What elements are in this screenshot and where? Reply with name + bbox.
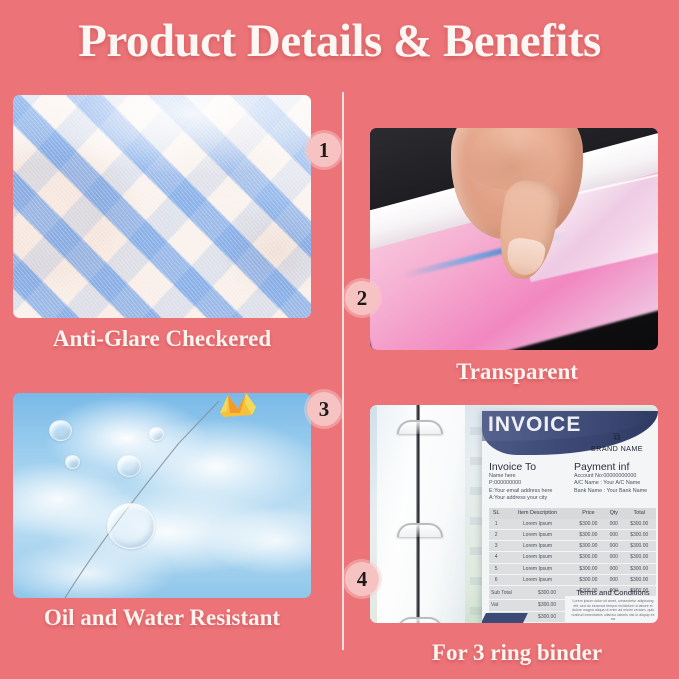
invoice-to-line: P:000000000 xyxy=(489,480,569,487)
terms-block: Terms and Conditions Lorem ipsum dolor s… xyxy=(570,588,656,622)
table-cell: $300.00 xyxy=(572,519,605,530)
table-cell: 5 xyxy=(489,563,503,574)
totals-row: Sub Total$300.00 xyxy=(489,588,565,599)
table-cell: $300.00 xyxy=(572,574,605,585)
brand-name: BRAND NAME xyxy=(581,444,653,453)
feature-caption-3: Oil and Water Resistant xyxy=(0,605,324,631)
film-sheen xyxy=(13,95,311,318)
step-badge-2: 2 xyxy=(345,281,379,315)
payment-info-line: Account No:00000000000 xyxy=(574,473,656,480)
invoice-to-line: Name here xyxy=(489,473,569,480)
binder-ring xyxy=(397,523,443,537)
table-row: 3Lorem Ipsum$300.00000$300.00 xyxy=(489,541,656,552)
table-cell: 000 xyxy=(605,519,622,530)
table-cell: 000 xyxy=(605,552,622,563)
feature-image-2 xyxy=(370,128,658,350)
feature-caption-1: Anti-Glare Checkered xyxy=(0,326,324,352)
payment-info-block: Payment inf Account No:00000000000 A/C N… xyxy=(574,461,656,495)
column-header: Price xyxy=(572,508,605,519)
table-cell: 3 xyxy=(489,541,503,552)
table-cell: 4 xyxy=(489,552,503,563)
table-cell: 000 xyxy=(605,541,622,552)
table-cell: 000 xyxy=(605,574,622,585)
table-cell: 000 xyxy=(605,563,622,574)
invoice-to-heading: Invoice To xyxy=(489,461,569,473)
table-row: 2Lorem Ipsum$300.00000$300.00 xyxy=(489,529,656,540)
binder-spine xyxy=(416,405,420,623)
step-badge-3: 3 xyxy=(307,392,341,426)
brand-logo-icon: ⧉ xyxy=(581,433,653,443)
table-cell: $300.00 xyxy=(622,574,656,585)
table-cell: $300.00 xyxy=(572,563,605,574)
table-cell: $300.00 xyxy=(622,552,656,563)
table-cell: Lorem Ipsum xyxy=(503,552,571,563)
feature-caption-4: For 3 ring binder xyxy=(355,640,679,666)
column-header: SL xyxy=(489,508,503,519)
invoice-to-block: Invoice To Name here P:000000000 E:Your … xyxy=(489,461,569,503)
table-row: 5Lorem Ipsum$300.00000$300.00 xyxy=(489,563,656,574)
table-cell: Lorem Ipsum xyxy=(503,541,571,552)
vertical-divider xyxy=(342,92,344,650)
table-row: 1Lorem Ipsum$300.00000$300.00 xyxy=(489,519,656,530)
knuckle-shading xyxy=(465,132,557,190)
payment-info-line: A/C Name : Your A/C Name xyxy=(574,480,656,487)
sheet-protector-sleeve xyxy=(377,405,465,623)
column-header: Item Description xyxy=(503,508,571,519)
binder-ring xyxy=(397,420,443,434)
water-droplet xyxy=(149,427,164,441)
table-cell: $300.00 xyxy=(572,541,605,552)
table-row: 6Lorem Ipsum$300.00000$300.00 xyxy=(489,574,656,585)
water-droplet xyxy=(49,420,72,441)
table-cell: $300.00 xyxy=(622,529,656,540)
invoice-items-table: SL Item Description Price Qty Total 1Lor… xyxy=(489,508,656,597)
totals-value: $300.00 xyxy=(529,599,565,611)
step-badge-4: 4 xyxy=(345,562,379,596)
step-badge-1: 1 xyxy=(307,133,341,167)
feature-caption-2: Transparent xyxy=(355,359,679,385)
table-cell: 2 xyxy=(489,529,503,540)
water-droplet xyxy=(107,503,155,549)
totals-label: Sub Total xyxy=(489,588,529,599)
table-cell: $300.00 xyxy=(622,519,656,530)
table-cell: Lorem Ipsum xyxy=(503,519,571,530)
totals-value: $300.00 xyxy=(529,611,565,623)
table-cell: $300.00 xyxy=(572,552,605,563)
kite-icon xyxy=(218,393,258,417)
table-cell: Lorem Ipsum xyxy=(503,529,571,540)
payment-info-heading: Payment inf xyxy=(574,461,656,473)
table-header-row: SL Item Description Price Qty Total xyxy=(489,508,656,519)
totals-value: $300.00 xyxy=(529,588,565,599)
product-feature-infographic: Product Details & Benefits xyxy=(0,0,679,679)
invoice-to-line: E:Your email address here xyxy=(489,488,569,495)
invoice-title: INVOICE xyxy=(488,413,581,437)
table-cell: $300.00 xyxy=(622,541,656,552)
brand-block: ⧉ BRAND NAME xyxy=(581,433,653,453)
table-cell: $300.00 xyxy=(572,529,605,540)
table-cell: 6 xyxy=(489,574,503,585)
terms-body: Lorem ipsum dolor sit amet, consectetur … xyxy=(570,599,656,622)
page-title: Product Details & Benefits xyxy=(0,14,679,68)
feature-image-3 xyxy=(13,393,311,598)
table-cell: Lorem Ipsum xyxy=(503,563,571,574)
invoice-to-line: A:Your address your city xyxy=(489,495,569,502)
kite-string xyxy=(59,393,231,598)
table-row: 4Lorem Ipsum$300.00000$300.00 xyxy=(489,552,656,563)
feature-image-1 xyxy=(13,95,311,318)
totals-label: Vat xyxy=(489,599,529,611)
totals-row: Vat$300.00 xyxy=(489,599,565,611)
table-cell: 1 xyxy=(489,519,503,530)
table-cell: 000 xyxy=(605,529,622,540)
invoice-footer-wedge xyxy=(482,613,528,623)
terms-heading: Terms and Conditions xyxy=(570,588,656,597)
water-droplet xyxy=(117,455,141,477)
column-header: Total xyxy=(622,508,656,519)
water-droplet xyxy=(65,455,80,469)
column-header: Qty xyxy=(605,508,622,519)
invoice-sheet: INVOICE ⧉ BRAND NAME Invoice To Name her… xyxy=(482,411,658,623)
feature-image-4: INVOICE ⧉ BRAND NAME Invoice To Name her… xyxy=(370,405,658,623)
payment-info-line: Bank Name : Your Bank Name xyxy=(574,488,656,495)
table-cell: $300.00 xyxy=(622,563,656,574)
table-cell: Lorem Ipsum xyxy=(503,574,571,585)
